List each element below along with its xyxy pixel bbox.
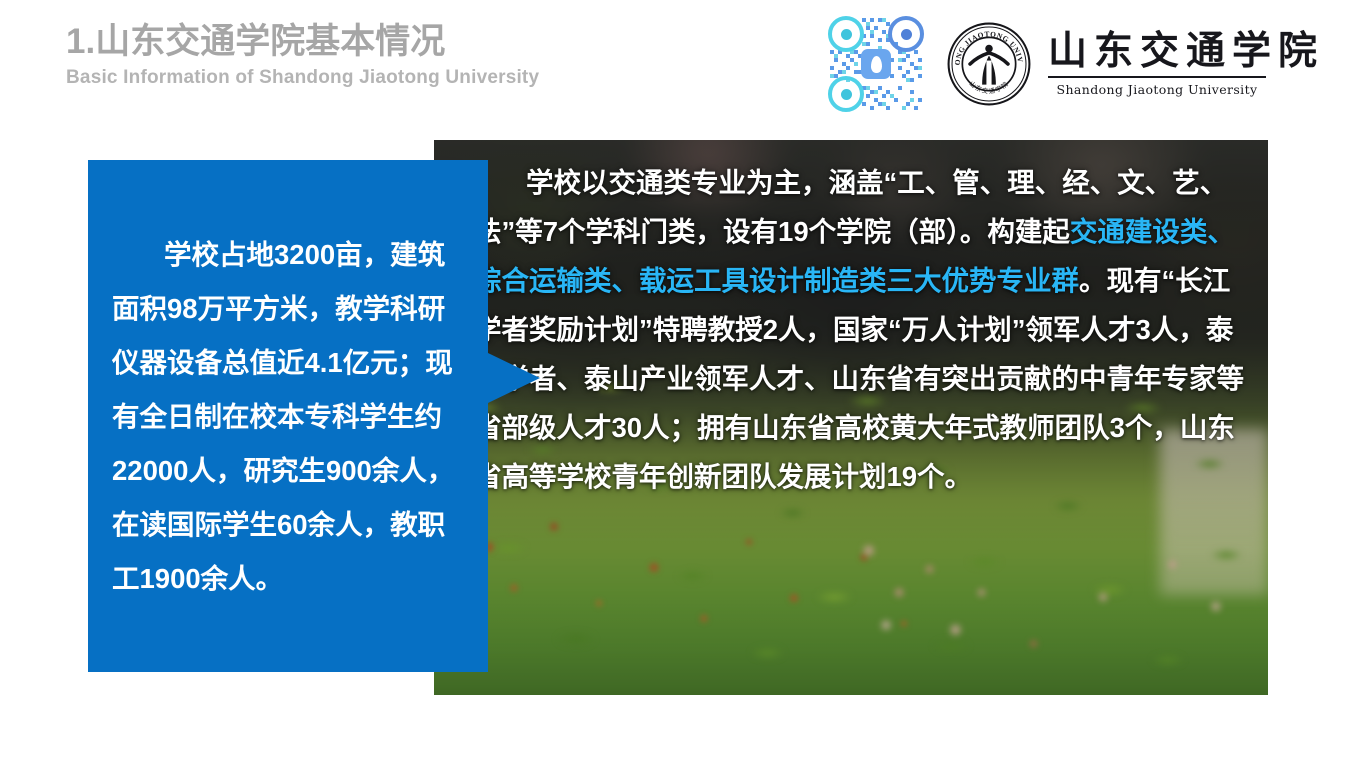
- wordmark-chinese: 山东交通学院: [1048, 32, 1324, 71]
- qr-finder-top-right-icon: [888, 16, 924, 52]
- qr-finder-top-left-icon: [828, 16, 864, 52]
- left-description-text: 学校占地3200亩，建筑面积98万平方米，教学科研仪器设备总值近4.1亿元；现有…: [112, 228, 468, 606]
- blue-panel-arrow-icon: [488, 353, 540, 403]
- wordmark-english: Shandong Jiaotong University: [1048, 82, 1266, 97]
- university-seal-icon: SHANDONG JIAOTONG UNIVERSITY 山东交通学院: [946, 21, 1032, 107]
- blue-info-panel: 学校占地3200亩，建筑面积98万平方米，教学科研仪器设备总值近4.1亿元；现有…: [88, 160, 488, 672]
- campus-photo-panel: 学校以交通类专业为主，涵盖“工、管、理、经、文、艺、法”等7个学科门类，设有19…: [434, 140, 1268, 695]
- right-description-text: 学校以交通类专业为主，涵盖“工、管、理、经、文、艺、法”等7个学科门类，设有19…: [474, 158, 1246, 501]
- university-wordmark: 山东交通学院 Shandong Jiaotong University: [1048, 32, 1324, 97]
- page-header: 1.山东交通学院基本情况 Basic Information of Shando…: [66, 22, 786, 89]
- wordmark-divider: [1048, 76, 1266, 78]
- qr-code-icon[interactable]: [820, 8, 932, 120]
- branding-block: SHANDONG JIAOTONG UNIVERSITY 山东交通学院 山东交通…: [820, 8, 1324, 120]
- qr-center-logo-icon: [861, 49, 891, 79]
- right-text-part-2: 。现有“长江学者奖励计划”特聘教授2人，国家“万人计划”领军人才3人，泰山学者、…: [474, 265, 1244, 492]
- qr-finder-bottom-left-icon: [828, 76, 864, 112]
- page-title: 1.山东交通学院基本情况: [66, 22, 786, 61]
- page-subtitle: Basic Information of Shandong Jiaotong U…: [66, 67, 786, 89]
